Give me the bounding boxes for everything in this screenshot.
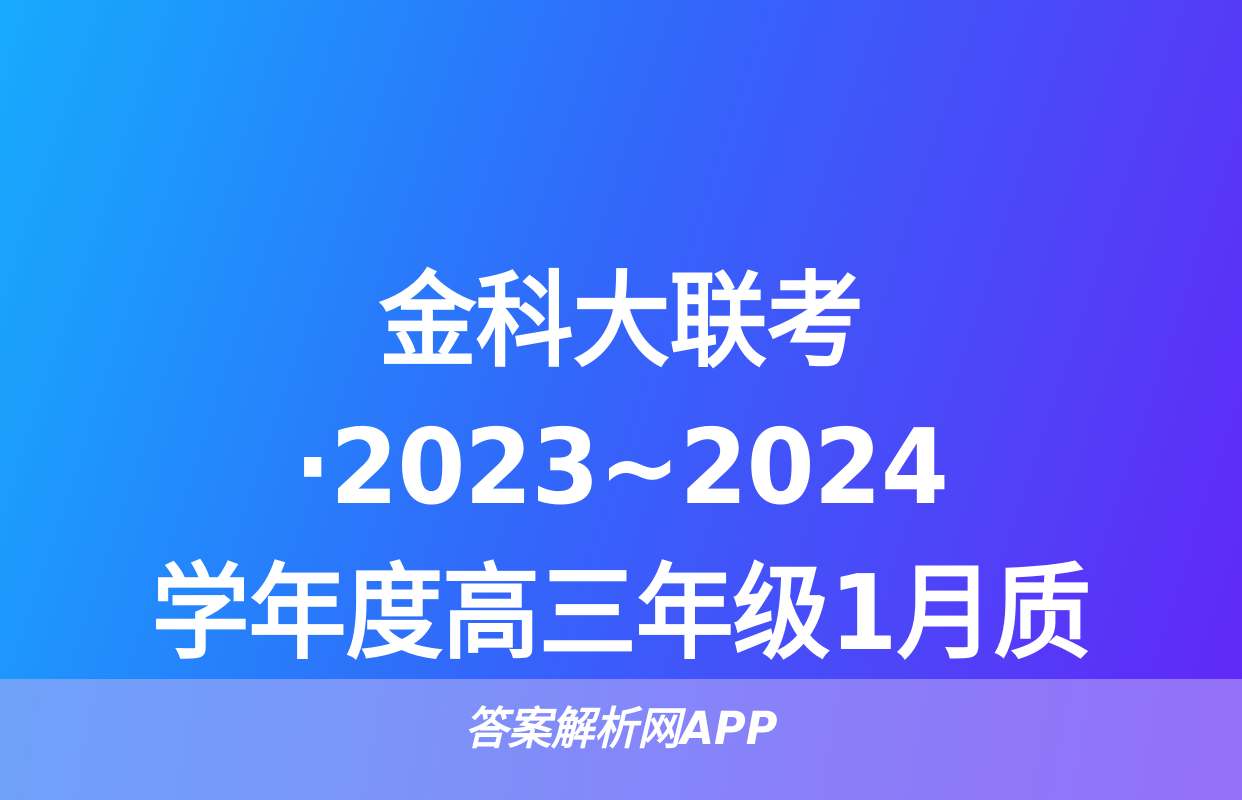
poster-canvas: 金科大联考·2023~2024 学年度高三年级1月质量 检测语文答案 答案解析网… [0,0,1242,800]
app-watermark-label: 答案解析网APP [25,701,1217,757]
hero-gradient-background: 金科大联考·2023~2024 学年度高三年级1月质量 检测语文答案 [0,0,1242,679]
title-line-1: 金科大联考·2023~2024 [111,248,1132,540]
footer-watermark-band: 答案解析网APP [0,679,1242,800]
